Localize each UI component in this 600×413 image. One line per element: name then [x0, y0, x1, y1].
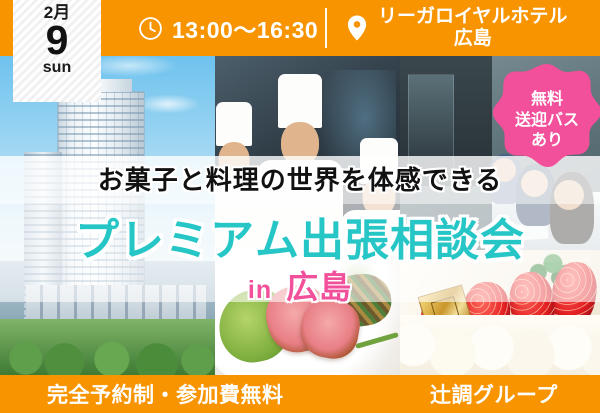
brand-name: 辻調グループ: [430, 375, 558, 413]
event-time-text: 13:00〜16:30: [172, 11, 318, 45]
event-time: 13:00〜16:30: [138, 0, 318, 56]
reservation-note: 完全予約制・参加費無料: [47, 375, 284, 413]
event-date-block: 2月 9 sun: [13, 0, 101, 102]
event-venue: リーガロイヤルホテル 広島: [345, 0, 567, 56]
header-divider: [325, 8, 327, 48]
badge-line-3: あり: [531, 131, 563, 151]
clock-icon: [138, 16, 163, 41]
city-line: in広島: [0, 262, 600, 308]
badge-line-2: 送迎バス: [515, 111, 579, 131]
venue-line-1: リーガロイヤルホテル: [378, 6, 567, 28]
badge-text: 無料 送迎バス あり: [491, 62, 600, 180]
tree-line: [0, 319, 215, 375]
date-day: 9: [46, 22, 69, 60]
badge-line-1: 無料: [531, 90, 563, 110]
in-word: in: [248, 276, 272, 304]
date-day-of-week: sun: [43, 60, 71, 76]
venue-line-2: 広島: [454, 28, 492, 50]
map-pin-icon: [345, 14, 369, 42]
chef-hat-icon: [216, 102, 252, 146]
whipped-cream: [400, 315, 600, 375]
event-venue-text: リーガロイヤルホテル 広島: [378, 6, 567, 49]
footer-bar: 完全予約制・参加費無料 辻調グループ: [0, 375, 600, 413]
chef-hat-icon: [278, 74, 322, 128]
city-name: 広島: [286, 269, 352, 305]
event-banner: お菓子と料理の世界を体感できる プレミアム出張相談会 in広島 無料 送迎バス …: [0, 0, 600, 413]
free-shuttle-badge: 無料 送迎バス あり: [491, 62, 600, 180]
page-title: プレミアム出張相談会: [0, 204, 600, 268]
